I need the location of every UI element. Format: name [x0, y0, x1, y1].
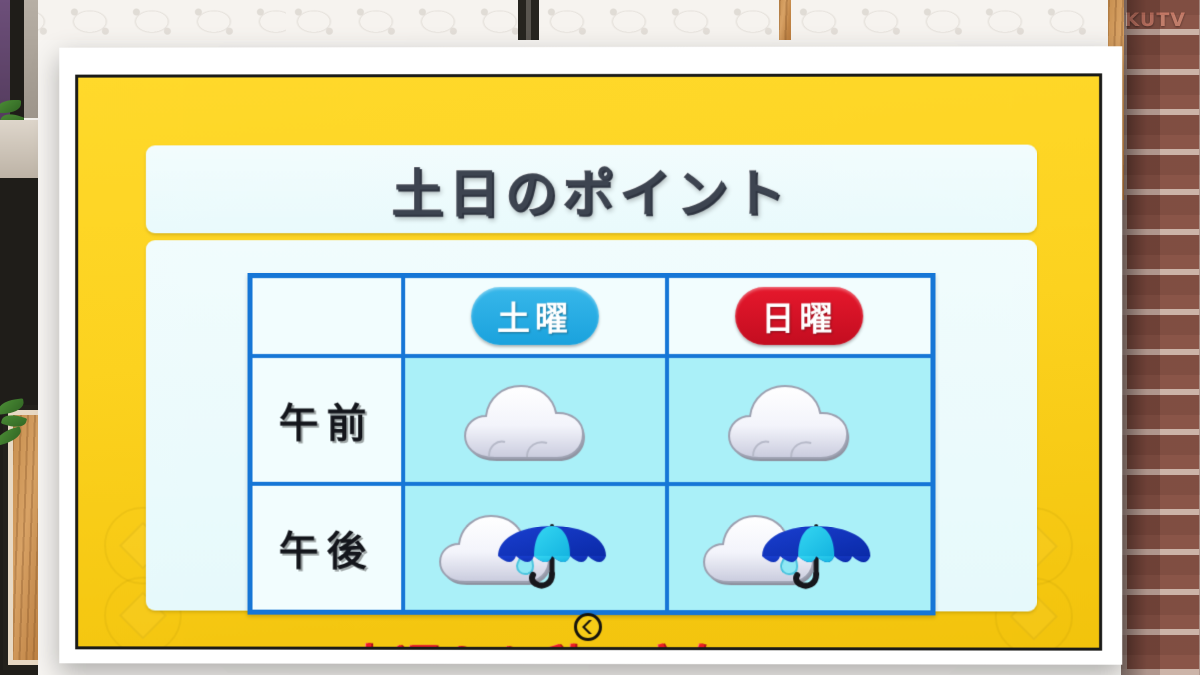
table-row: 午後 — [250, 484, 932, 613]
cell-sunday-afternoon — [667, 484, 932, 612]
column-header-sunday: 日曜 — [667, 276, 932, 356]
brick-wall-shadow — [1121, 0, 1147, 675]
page-title: 土日のポイント — [391, 151, 790, 226]
table-body: 午前 — [250, 356, 932, 612]
forecast-panel: 土曜 日曜 午前 — [146, 240, 1037, 612]
cloud-rain-umbrella-icon — [669, 486, 930, 610]
set-ledge-left — [0, 120, 40, 178]
column-header-saturday: 土曜 — [403, 276, 667, 356]
wall-panel-upper-left — [0, 0, 300, 40]
plant-lower-left — [0, 398, 36, 470]
row-label-morning: 午前 — [250, 356, 403, 484]
weekend-forecast-table: 土曜 日曜 午前 — [247, 273, 935, 616]
table-row: 午前 — [250, 356, 932, 484]
cell-saturday-afternoon — [403, 484, 667, 612]
cell-sunday-morning — [667, 356, 932, 484]
chevron-left-icon[interactable] — [574, 613, 602, 641]
tv-screen: 土日のポイント 土曜 日曜 — [78, 76, 1099, 647]
cell-saturday-morning — [403, 356, 667, 484]
kutv-watermark: KUTV — [1125, 9, 1186, 31]
table-header: 土曜 日曜 — [250, 276, 932, 356]
tv-monitor: 土日のポイント 土曜 日曜 — [59, 46, 1122, 664]
cloud-icon — [405, 358, 665, 482]
saturday-pill: 土曜 — [471, 287, 599, 345]
sunday-pill: 日曜 — [735, 287, 863, 345]
cloud-rain-umbrella-icon — [405, 486, 665, 610]
table-corner-cell — [250, 276, 403, 356]
cloud-icon — [669, 358, 930, 482]
tv-bezel: 土日のポイント 土曜 日曜 — [75, 73, 1102, 650]
row-label-afternoon: 午後 — [250, 484, 403, 612]
table-header-row: 土曜 日曜 — [250, 276, 932, 356]
title-panel: 土日のポイント — [146, 145, 1037, 234]
